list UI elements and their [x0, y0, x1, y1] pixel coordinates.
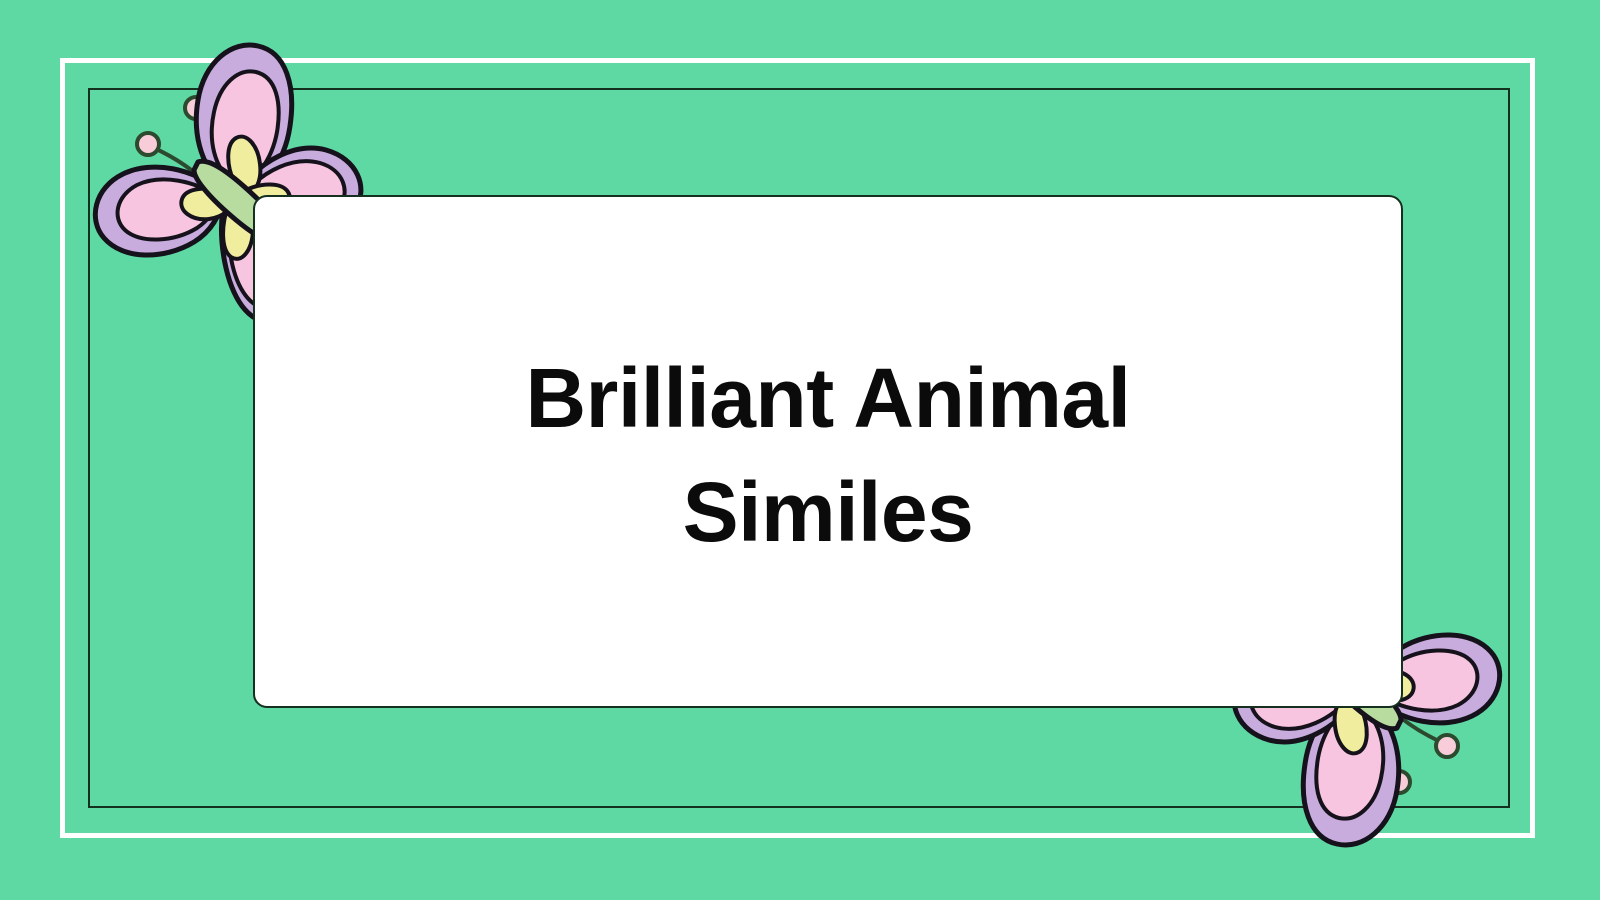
page-title: Brilliant Animal Similes: [468, 342, 1188, 569]
page-title-line-1: Brilliant Animal: [468, 342, 1188, 455]
content-card: Brilliant Animal Similes: [253, 195, 1403, 708]
slide-canvas: Brilliant Animal Similes: [0, 0, 1600, 900]
page-title-line-2: Similes: [468, 456, 1188, 569]
